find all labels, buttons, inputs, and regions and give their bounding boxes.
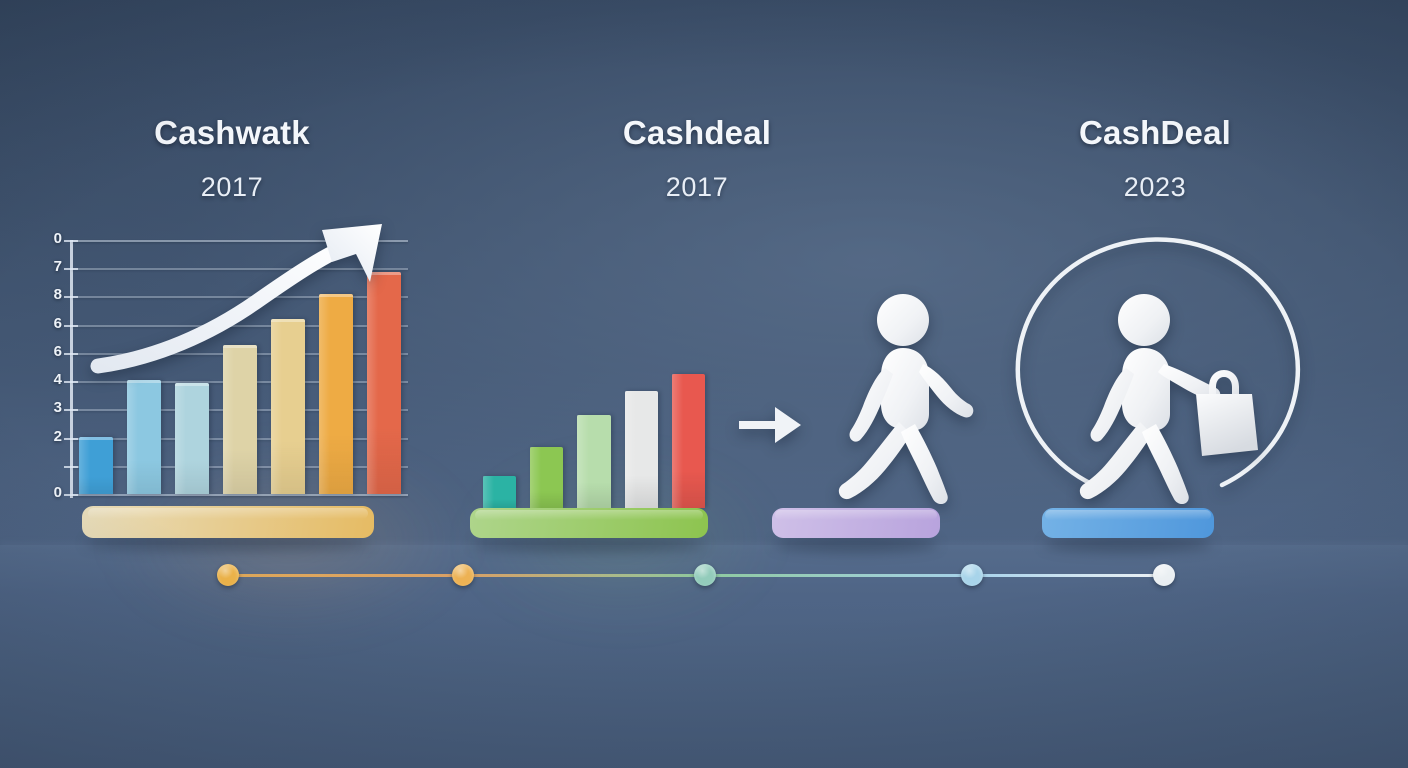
chart-bar bbox=[127, 380, 162, 494]
chart2-bar bbox=[625, 391, 658, 508]
panel-year-cashwatk: 2017 bbox=[82, 172, 382, 203]
chart2-bar bbox=[672, 374, 705, 508]
y-axis-label: 8 bbox=[34, 286, 62, 303]
y-axis-label: 7 bbox=[34, 258, 62, 275]
y-axis-label: 3 bbox=[34, 399, 62, 416]
chart-bar bbox=[175, 383, 210, 494]
walking-person-icon bbox=[815, 290, 975, 516]
panel-title-cashwatk: Cashwatk bbox=[82, 114, 382, 152]
timeline-dot[interactable] bbox=[217, 564, 239, 586]
timeline-dot[interactable] bbox=[1153, 564, 1175, 586]
chart-bar bbox=[79, 437, 114, 494]
chart2-bar bbox=[483, 476, 516, 508]
panel-title-cashdeal-2017: Cashdeal bbox=[547, 114, 847, 152]
timeline-dot[interactable] bbox=[694, 564, 716, 586]
bar-top-highlight bbox=[79, 437, 114, 440]
y-axis-label: 2 bbox=[34, 428, 62, 445]
panel-year-cashdeal-2017: 2017 bbox=[547, 172, 847, 203]
right-arrow-icon bbox=[735, 395, 805, 455]
growth-arrow-icon bbox=[60, 218, 420, 388]
timeline-segment bbox=[463, 574, 705, 577]
illustration-canvas: Cashwatk 2017 Cashdeal 2017 CashDeal 202… bbox=[0, 0, 1408, 768]
timeline-dot[interactable] bbox=[452, 564, 474, 586]
gridline bbox=[72, 494, 408, 496]
shopping-person-icon bbox=[1072, 290, 1262, 516]
timeline-dot[interactable] bbox=[961, 564, 983, 586]
y-axis-label: 6 bbox=[34, 315, 62, 332]
progress-timeline bbox=[0, 560, 1408, 592]
pedestal-shopper bbox=[1042, 508, 1214, 538]
y-axis-tick bbox=[64, 466, 78, 468]
pedestal-walker bbox=[772, 508, 940, 538]
y-axis-tick bbox=[64, 438, 78, 440]
pedestal-chart-2 bbox=[470, 508, 708, 538]
timeline-segment bbox=[705, 574, 972, 577]
growth-bar-chart-cashdeal-2017 bbox=[476, 360, 716, 508]
y-axis-label: 0 bbox=[34, 230, 62, 247]
chart2-bar bbox=[577, 415, 610, 508]
y-axis-label: 4 bbox=[34, 371, 62, 388]
y-axis-tick bbox=[64, 494, 78, 496]
timeline-segment bbox=[228, 574, 463, 577]
chart2-bar bbox=[530, 447, 563, 508]
panel-title-cashdeal-2023: CashDeal bbox=[1005, 114, 1305, 152]
y-axis-tick bbox=[64, 409, 78, 411]
pedestal-chart-1 bbox=[82, 506, 374, 538]
panel-year-cashdeal-2023: 2023 bbox=[1005, 172, 1305, 203]
y-axis-label: 0 bbox=[34, 484, 62, 501]
timeline-segment bbox=[972, 574, 1164, 577]
y-axis-label: 6 bbox=[34, 343, 62, 360]
